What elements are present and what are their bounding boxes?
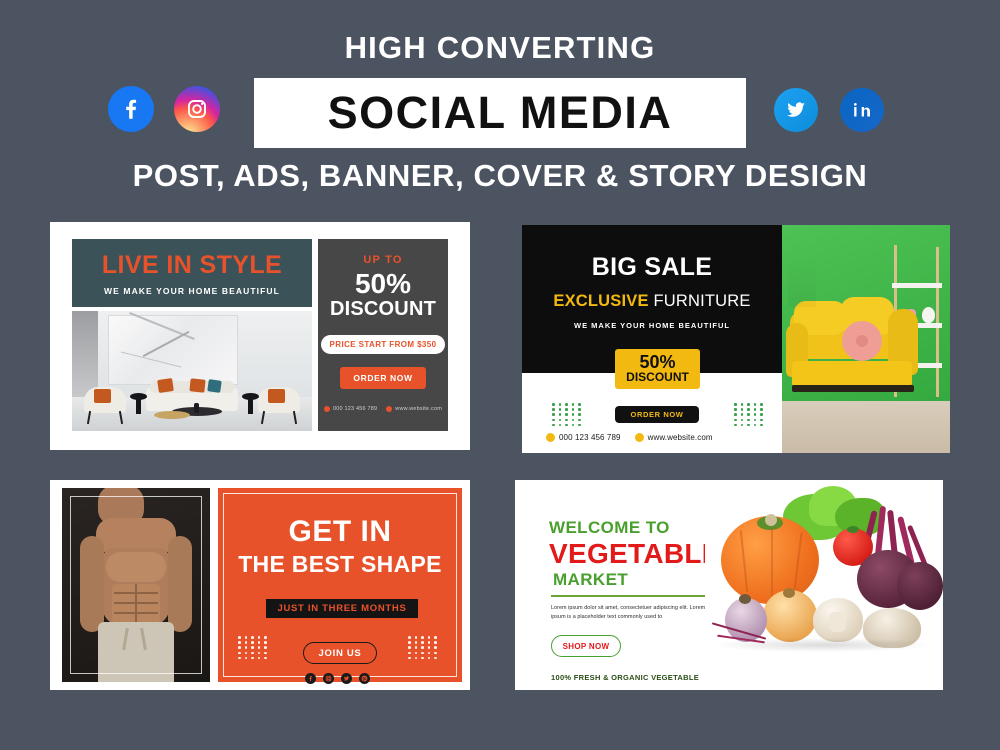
card2-subtitle-highlight: EXCLUSIVE (553, 292, 648, 310)
card2-tagline: WE MAKE YOUR HOME BEAUTIFUL (522, 321, 782, 330)
card1-price-badge: PRICE START FROM $350 (321, 335, 446, 354)
vegetables-photo (705, 480, 943, 690)
card1-title: LIVE IN STYLE (102, 251, 282, 280)
card4-shop-now-button[interactable]: SHOP NOW (551, 635, 621, 657)
card4-welcome: WELCOME TO (549, 518, 670, 538)
card2-website: www.website.com (648, 433, 713, 442)
social-icons-right (774, 88, 884, 132)
card2-phone: 000 123 456 789 (559, 433, 621, 442)
phone-icon (324, 406, 330, 412)
card-fitness[interactable]: GET IN THE BEST SHAPE JUST IN THREE MONT… (50, 480, 470, 690)
social-icons-left (108, 86, 220, 132)
card4-divider (551, 595, 719, 597)
facebook-icon[interactable] (108, 86, 154, 132)
header-title-box: SOCIAL MEDIA (254, 78, 746, 148)
instagram-icon[interactable] (323, 673, 334, 684)
card1-discount-word: DISCOUNT (330, 298, 436, 321)
card2-discount-number: 50% (639, 353, 675, 371)
card1-offer-panel: UP TO 50% DISCOUNT PRICE START FROM $350… (318, 239, 448, 431)
card2-discount-badge: 50% DISCOUNT (615, 349, 700, 389)
globe-icon (386, 406, 392, 412)
header-line-3: POST, ADS, BANNER, COVER & STORY DESIGN (0, 158, 1000, 194)
fitness-model-photo (62, 488, 210, 682)
card1-header-block: LIVE IN STYLE WE MAKE YOUR HOME BEAUTIFU… (72, 239, 312, 307)
card2-phone-item: 000 123 456 789 (546, 433, 621, 442)
facebook-icon[interactable] (305, 673, 316, 684)
card3-badge: JUST IN THREE MONTHS (266, 599, 418, 618)
photo-frame-border (70, 496, 202, 674)
card2-website-item: www.website.com (635, 433, 713, 442)
twitter-icon[interactable] (774, 88, 818, 132)
dot-pattern-left (238, 636, 268, 659)
card1-order-now-button[interactable]: ORDER NOW (340, 367, 425, 389)
card3-content-panel: GET IN THE BEST SHAPE JUST IN THREE MONT… (218, 488, 462, 682)
header-line-1: HIGH CONVERTING (0, 30, 1000, 66)
globe-icon (635, 433, 644, 442)
twitter-icon[interactable] (341, 673, 352, 684)
page-title: SOCIAL MEDIA (328, 87, 673, 139)
card-live-in-style[interactable]: LIVE IN STYLE WE MAKE YOUR HOME BEAUTIFU… (50, 222, 470, 450)
card4-body-text: Lorem ipsum dolor sit amet, consectetuer… (551, 604, 716, 622)
card4-footer-note: 100% FRESH & ORGANIC VEGETABLE (551, 673, 699, 682)
card1-phone: 000 123 456 789 (333, 406, 377, 412)
card1-subtitle: WE MAKE YOUR HOME BEAUTIFUL (104, 286, 280, 296)
card1-discount-number: 50% (355, 269, 411, 298)
card1-phone-item: 000 123 456 789 (324, 406, 377, 412)
card2-subtitle-rest: FURNITURE (653, 292, 750, 310)
linkedin-icon[interactable] (840, 88, 884, 132)
dot-pattern-right (734, 403, 764, 426)
card2-order-now-button[interactable]: ORDER NOW (615, 406, 699, 423)
card2-title: BIG SALE (522, 253, 782, 282)
card1-website: www.website.com (395, 406, 442, 412)
dot-pattern-left (552, 403, 582, 426)
card1-contact-row: 000 123 456 789 www.website.com (324, 406, 442, 412)
card4-subtitle: MARKET (553, 570, 628, 590)
page-header: HIGH CONVERTING SOCIAL MEDIA POST, ADS, … (0, 0, 1000, 212)
card3-join-us-button[interactable]: JOIN US (303, 642, 377, 664)
card1-up-to-label: UP TO (363, 254, 402, 266)
pinterest-icon[interactable] (359, 673, 370, 684)
dot-pattern-right (408, 636, 438, 659)
card1-left-column: LIVE IN STYLE WE MAKE YOUR HOME BEAUTIFU… (72, 239, 312, 431)
instagram-icon[interactable] (174, 86, 220, 132)
card3-social-row (305, 673, 370, 684)
yellow-sofa-photo (782, 225, 950, 453)
card1-website-item: www.website.com (386, 406, 442, 412)
card2-subtitle: EXCLUSIVE FURNITURE (522, 292, 782, 311)
card2-contact-row: 000 123 456 789 www.website.com (546, 433, 713, 442)
card-big-sale[interactable]: BIG SALE EXCLUSIVE FURNITURE WE MAKE YOU… (522, 225, 950, 453)
card-vegetables-market[interactable]: WELCOME TO VEGETABLES MARKET Lorem ipsum… (515, 480, 943, 690)
living-room-photo (72, 311, 312, 431)
phone-icon (546, 433, 555, 442)
card2-discount-word: DISCOUNT (626, 371, 689, 385)
